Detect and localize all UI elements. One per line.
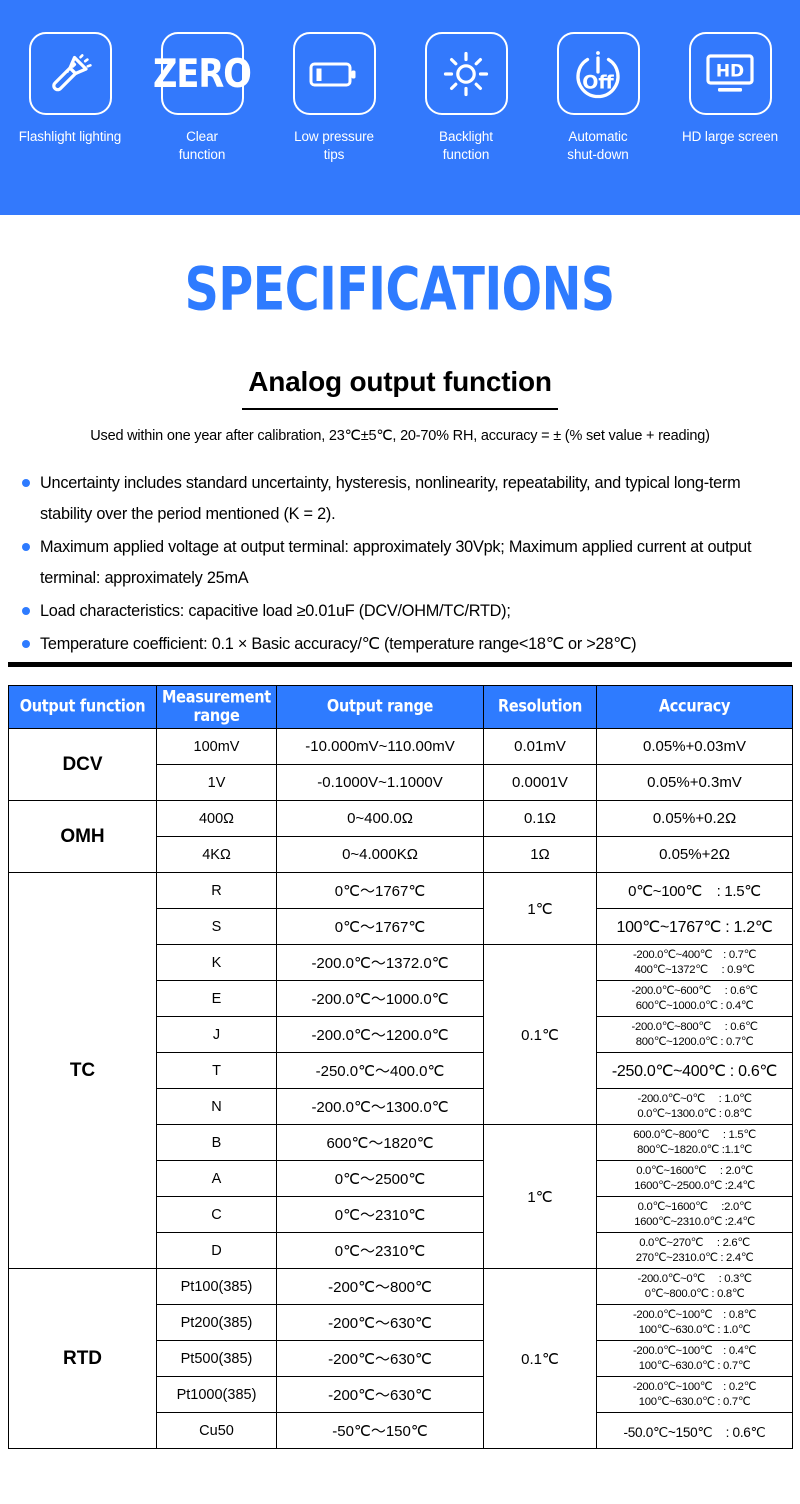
bullet-list: Uncertainty includes standard uncertaint… <box>20 468 782 660</box>
feature-backlight-function: Backlight function <box>411 32 521 164</box>
cell-accuracy: -200.0℃~100℃ : 0.2℃ 100℃~630.0℃ : 0.7℃ <box>597 1377 793 1413</box>
cell-measurement-range: 1V <box>157 765 277 801</box>
cell-measurement-range: R <box>157 873 277 909</box>
cell-output-range: -10.000mV~110.00mV <box>277 729 484 765</box>
feature-label: Automatic shut-down <box>567 128 628 164</box>
table-row: TCR0℃～1767℃1℃0℃~100℃ : 1.5℃ <box>9 873 793 909</box>
cell-output-range: -200℃～800℃ <box>277 1269 484 1305</box>
cell-measurement-range: 100mV <box>157 729 277 765</box>
cell-measurement-range: E <box>157 981 277 1017</box>
power-off-icon: Off <box>570 46 626 102</box>
cell-output-range: -0.1000V~1.1000V <box>277 765 484 801</box>
cell-accuracy: 0.0℃~1600℃ :2.0℃ 1600℃~2310.0℃ :2.4℃ <box>597 1197 793 1233</box>
cell-output-range: 600℃～1820℃ <box>277 1125 484 1161</box>
feature-flashlight-lighting: Flashlight lighting <box>15 32 125 146</box>
cell-accuracy: 0.0℃~270℃ : 2.6℃ 270℃~2310.0℃ : 2.4℃ <box>597 1233 793 1269</box>
cell-resolution: 1℃ <box>484 1125 597 1269</box>
cell-accuracy: -200.0℃~0℃ : 1.0℃ 0.0℃~1300.0℃ : 0.8℃ <box>597 1089 793 1125</box>
cell-output-range: -50℃～150℃ <box>277 1413 484 1449</box>
table-row: RTDPt100(385)-200℃～800℃0.1℃-200.0℃~0℃ : … <box>9 1269 793 1305</box>
cell-output-range: -200.0℃～1200.0℃ <box>277 1017 484 1053</box>
cell-resolution: 1℃ <box>484 873 597 945</box>
feature-list: Flashlight lighting ZERO Clear function … <box>0 0 800 164</box>
cell-output-range: 0℃～2500℃ <box>277 1161 484 1197</box>
bullet-dot-icon <box>22 607 30 615</box>
section-subtitle: Analog output function <box>242 366 558 410</box>
svg-text:Off: Off <box>582 71 614 93</box>
brightness-icon-box <box>425 32 508 115</box>
group-label-tc: TC <box>9 873 157 1269</box>
spec-header: SPECIFICATIONS Analog output function Us… <box>0 215 800 444</box>
cell-measurement-range: A <box>157 1161 277 1197</box>
cell-measurement-range: B <box>157 1125 277 1161</box>
bullet-text: Temperature coefficient: 0.1 × Basic acc… <box>40 635 636 653</box>
hd-screen-icon-box: HD <box>689 32 772 115</box>
cell-measurement-range: Cu50 <box>157 1413 277 1449</box>
cell-accuracy: -200.0℃~100℃ : 0.4℃ 100℃~630.0℃ : 0.7℃ <box>597 1341 793 1377</box>
flashlight-icon-box <box>29 32 112 115</box>
svg-text:HD: HD <box>716 61 744 81</box>
cell-output-range: -200.0℃～1300.0℃ <box>277 1089 484 1125</box>
cell-measurement-range: K <box>157 945 277 981</box>
cell-output-range: -200℃～630℃ <box>277 1305 484 1341</box>
cell-accuracy: -200.0℃~800℃ : 0.6℃ 800℃~1200.0℃ : 0.7℃ <box>597 1017 793 1053</box>
specifications-table: Output function Measurement range Output… <box>8 685 793 1449</box>
cell-output-range: 0℃～1767℃ <box>277 909 484 945</box>
zero-icon-box: ZERO <box>161 32 244 115</box>
cell-accuracy: 0.05%+0.3mV <box>597 765 793 801</box>
feature-automatic-shut-down: Off Automatic shut-down <box>543 32 653 164</box>
list-item: Maximum applied voltage at output termin… <box>20 532 782 594</box>
cell-output-range: -250.0℃～400.0℃ <box>277 1053 484 1089</box>
cell-resolution: 1Ω <box>484 837 597 873</box>
bullet-dot-icon <box>22 543 30 551</box>
cell-accuracy: -200.0℃~100℃ : 0.8℃ 100℃~630.0℃ : 1.0℃ <box>597 1305 793 1341</box>
cell-accuracy: 100℃~1767℃ : 1.2℃ <box>597 909 793 945</box>
cell-accuracy: -50.0℃~150℃ : 0.6℃ <box>597 1413 793 1449</box>
cell-output-range: 0~400.0Ω <box>277 801 484 837</box>
cell-resolution: 0.1℃ <box>484 1269 597 1449</box>
subtitle-wrap: Analog output function <box>0 366 800 410</box>
spec-table-wrap: Output function Measurement range Output… <box>8 685 792 1449</box>
list-item: Uncertainty includes standard uncertaint… <box>20 468 782 530</box>
bullet-text: Maximum applied voltage at output termin… <box>40 538 751 587</box>
cell-measurement-range: 400Ω <box>157 801 277 837</box>
cell-measurement-range: D <box>157 1233 277 1269</box>
power-off-icon-box: Off <box>557 32 640 115</box>
cell-accuracy: 0.05%+2Ω <box>597 837 793 873</box>
cell-accuracy: -200.0℃~0℃ : 0.3℃ 0℃~800.0℃ : 0.8℃ <box>597 1269 793 1305</box>
col-accuracy: Accuracy <box>597 686 793 729</box>
feature-label: Low pressure tips <box>294 128 374 164</box>
page-title: SPECIFICATIONS <box>185 255 615 325</box>
cell-measurement-range: Pt1000(385) <box>157 1377 277 1413</box>
feature-low-pressure-tips: Low pressure tips <box>279 32 389 164</box>
col-resolution: Resolution <box>484 686 597 729</box>
cell-measurement-range: C <box>157 1197 277 1233</box>
cell-measurement-range: Pt100(385) <box>157 1269 277 1305</box>
feature-label: Backlight function <box>439 128 493 164</box>
col-output-range: Output range <box>277 686 484 729</box>
cell-measurement-range: J <box>157 1017 277 1053</box>
cell-output-range: -200.0℃～1000.0℃ <box>277 981 484 1017</box>
cell-accuracy: -200.0℃~600℃ : 0.6℃ 600℃~1000.0℃ : 0.4℃ <box>597 981 793 1017</box>
feature-hd-large-screen: HD HD large screen <box>675 32 785 146</box>
cell-resolution: 0.1Ω <box>484 801 597 837</box>
cell-accuracy: 0℃~100℃ : 1.5℃ <box>597 873 793 909</box>
cell-output-range: -200℃～630℃ <box>277 1341 484 1377</box>
cell-resolution: 0.1℃ <box>484 945 597 1125</box>
cell-measurement-range: T <box>157 1053 277 1089</box>
cell-measurement-range: S <box>157 909 277 945</box>
cell-output-range: -200.0℃～1372.0℃ <box>277 945 484 981</box>
table-header-row: Output function Measurement range Output… <box>9 686 793 729</box>
zero-text-icon: ZERO <box>153 50 251 96</box>
cell-output-range: 0~4.000KΩ <box>277 837 484 873</box>
cell-measurement-range: Pt500(385) <box>157 1341 277 1377</box>
brightness-sun-icon <box>440 48 492 100</box>
cell-accuracy: 600.0℃~800℃ : 1.5℃ 800℃~1820.0℃ :1.1℃ <box>597 1125 793 1161</box>
cell-accuracy: 0.05%+0.2Ω <box>597 801 793 837</box>
bullet-dot-icon <box>22 479 30 487</box>
feature-label: HD large screen <box>682 128 778 146</box>
cell-measurement-range: N <box>157 1089 277 1125</box>
feature-label: Clear function <box>179 128 225 164</box>
bullet-text: Load characteristics: capacitive load ≥0… <box>40 602 511 620</box>
cell-measurement-range: Pt200(385) <box>157 1305 277 1341</box>
cell-measurement-range: 4KΩ <box>157 837 277 873</box>
bullet-text: Uncertainty includes standard uncertaint… <box>40 474 740 523</box>
hd-screen-icon: HD <box>703 50 757 98</box>
cell-output-range: 0℃～2310℃ <box>277 1197 484 1233</box>
cell-resolution: 0.01mV <box>484 729 597 765</box>
cell-accuracy: -250.0℃~400℃ : 0.6℃ <box>597 1053 793 1089</box>
cell-output-range: 0℃～1767℃ <box>277 873 484 909</box>
cell-accuracy: 0.05%+0.03mV <box>597 729 793 765</box>
table-top-rule <box>8 662 792 667</box>
calibration-note: Used within one year after calibration, … <box>0 428 800 444</box>
table-body: DCV100mV-10.000mV~110.00mV0.01mV0.05%+0.… <box>9 729 793 1449</box>
col-output-function: Output function <box>9 686 157 729</box>
cell-accuracy: -200.0℃~400℃ : 0.7℃ 400℃~1372℃ : 0.9℃ <box>597 945 793 981</box>
group-label-dcv: DCV <box>9 729 157 801</box>
cell-output-range: -200℃～630℃ <box>277 1377 484 1413</box>
cell-resolution: 0.0001V <box>484 765 597 801</box>
battery-low-icon <box>307 54 361 94</box>
table-head: Output function Measurement range Output… <box>9 686 793 729</box>
cell-output-range: 0℃～2310℃ <box>277 1233 484 1269</box>
bullet-dot-icon <box>22 640 30 648</box>
group-label-rtd: RTD <box>9 1269 157 1449</box>
cell-accuracy: 0.0℃~1600℃ : 2.0℃ 1600℃~2500.0℃ :2.4℃ <box>597 1161 793 1197</box>
feature-clear-function: ZERO Clear function <box>147 32 257 164</box>
group-label-omh: OMH <box>9 801 157 873</box>
col-measurement-range: Measurement range <box>157 686 277 729</box>
list-item: Temperature coefficient: 0.1 × Basic acc… <box>20 629 782 660</box>
table-row: OMH400Ω0~400.0Ω0.1Ω0.05%+0.2Ω <box>9 801 793 837</box>
flashlight-icon <box>44 48 96 100</box>
table-row: DCV100mV-10.000mV~110.00mV0.01mV0.05%+0.… <box>9 729 793 765</box>
battery-icon-box <box>293 32 376 115</box>
feature-banner: Flashlight lighting ZERO Clear function … <box>0 0 800 215</box>
list-item: Load characteristics: capacitive load ≥0… <box>20 596 782 627</box>
feature-label: Flashlight lighting <box>19 128 121 146</box>
